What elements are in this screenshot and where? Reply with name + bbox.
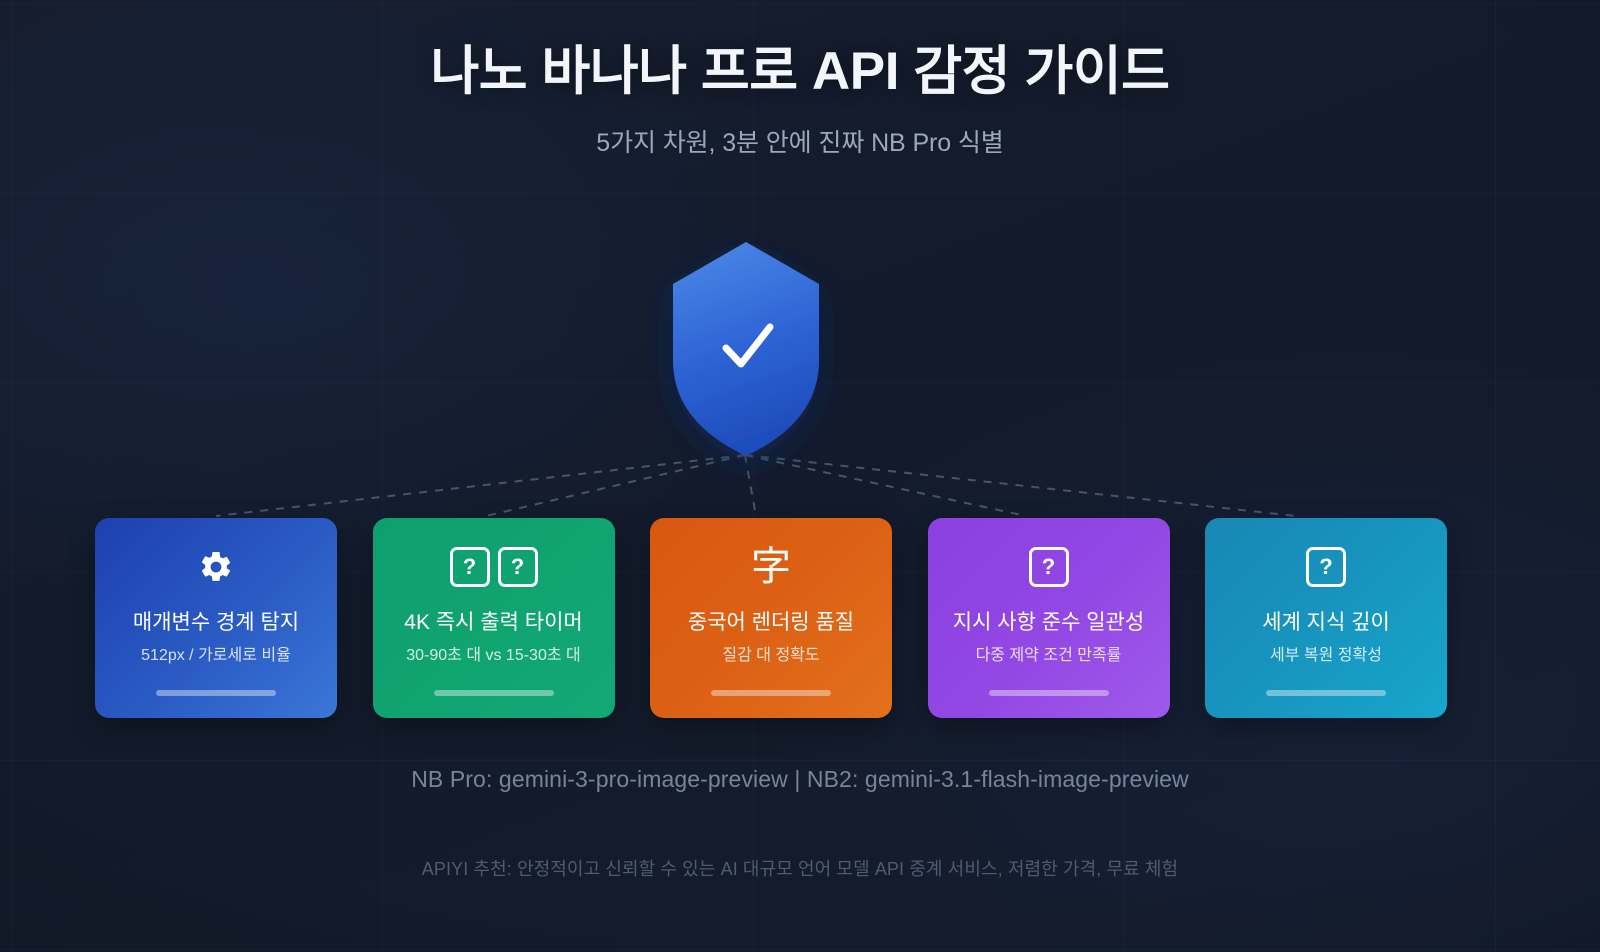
card-4k-instant-output-timer[interactable]: ? ? 4K 즉시 출력 타이머 30-90초 대 vs 15-30초 대 [373,518,615,718]
header: 나노 바나나 프로 API 감정 가이드 5가지 차원, 3분 안에 진짜 NB… [0,0,1600,159]
card-chinese-rendering-quality[interactable]: 字 중국어 렌더링 품질 질감 대 정확도 [650,518,892,718]
card-progress-bar [1266,690,1386,696]
question-box-icon: ? [450,547,490,587]
card-icon-slot: ? ? [450,545,538,589]
connector-line-3 [745,455,756,516]
connector-line-1 [216,455,745,516]
card-progress-bar [711,690,831,696]
connector-line-5 [745,455,1296,516]
card-title: 중국어 렌더링 품질 [680,610,862,635]
card-parameter-boundary-detection[interactable]: 매개변수 경계 탐지 512px / 가로세로 비율 [95,518,337,718]
card-title: 세계 지식 깊이 [1254,610,1398,635]
card-world-knowledge-depth[interactable]: ? 세계 지식 깊이 세부 복원 정확성 [1205,518,1447,718]
question-box-icon: ? [1029,547,1069,587]
card-title: 매개변수 경계 탐지 [125,610,307,635]
card-title: 지시 사항 준수 일관성 [945,610,1152,635]
page-title: 나노 바나나 프로 API 감정 가이드 [0,42,1600,101]
hero-shield [671,240,821,458]
card-icon-slot: ? [1306,545,1346,589]
footer-model-names: NB Pro: gemini-3-pro-image-preview | NB2… [0,766,1600,793]
card-subtitle: 다중 제약 조건 만족률 [970,646,1128,665]
page-subtitle: 5가지 차원, 3분 안에 진짜 NB Pro 식별 [0,123,1600,159]
card-subtitle: 질감 대 정확도 [716,646,825,665]
card-icon-slot: 字 [751,545,791,589]
card-progress-bar [156,690,276,696]
infographic-canvas: 나노 바나나 프로 API 감정 가이드 5가지 차원, 3분 안에 진짜 NB… [0,0,1600,952]
cjk-character-icon: 字 [751,547,791,587]
card-subtitle: 세부 복원 정확성 [1264,646,1388,665]
card-subtitle: 512px / 가로세로 비율 [135,646,297,665]
dimension-cards: 매개변수 경계 탐지 512px / 가로세로 비율 ? ? 4K 즉시 출력 … [95,518,1447,718]
connector-line-2 [486,455,745,516]
question-box-icon: ? [498,547,538,587]
card-progress-bar [989,690,1109,696]
gear-icon [198,549,234,585]
card-subtitle: 30-90초 대 vs 15-30초 대 [400,646,587,665]
question-box-icon: ? [1306,547,1346,587]
card-icon-slot: ? [1029,545,1069,589]
shield-shape [673,242,819,456]
footer-promo-text: APIYI 추천: 안정적이고 신뢰할 수 있는 AI 대규모 언어 모델 AP… [0,855,1600,881]
card-icon-slot [198,545,234,589]
card-title: 4K 즉시 출력 타이머 [396,610,590,635]
connector-line-4 [745,455,1026,516]
card-instruction-compliance-consistency[interactable]: ? 지시 사항 준수 일관성 다중 제약 조건 만족률 [928,518,1170,718]
card-progress-bar [434,690,554,696]
